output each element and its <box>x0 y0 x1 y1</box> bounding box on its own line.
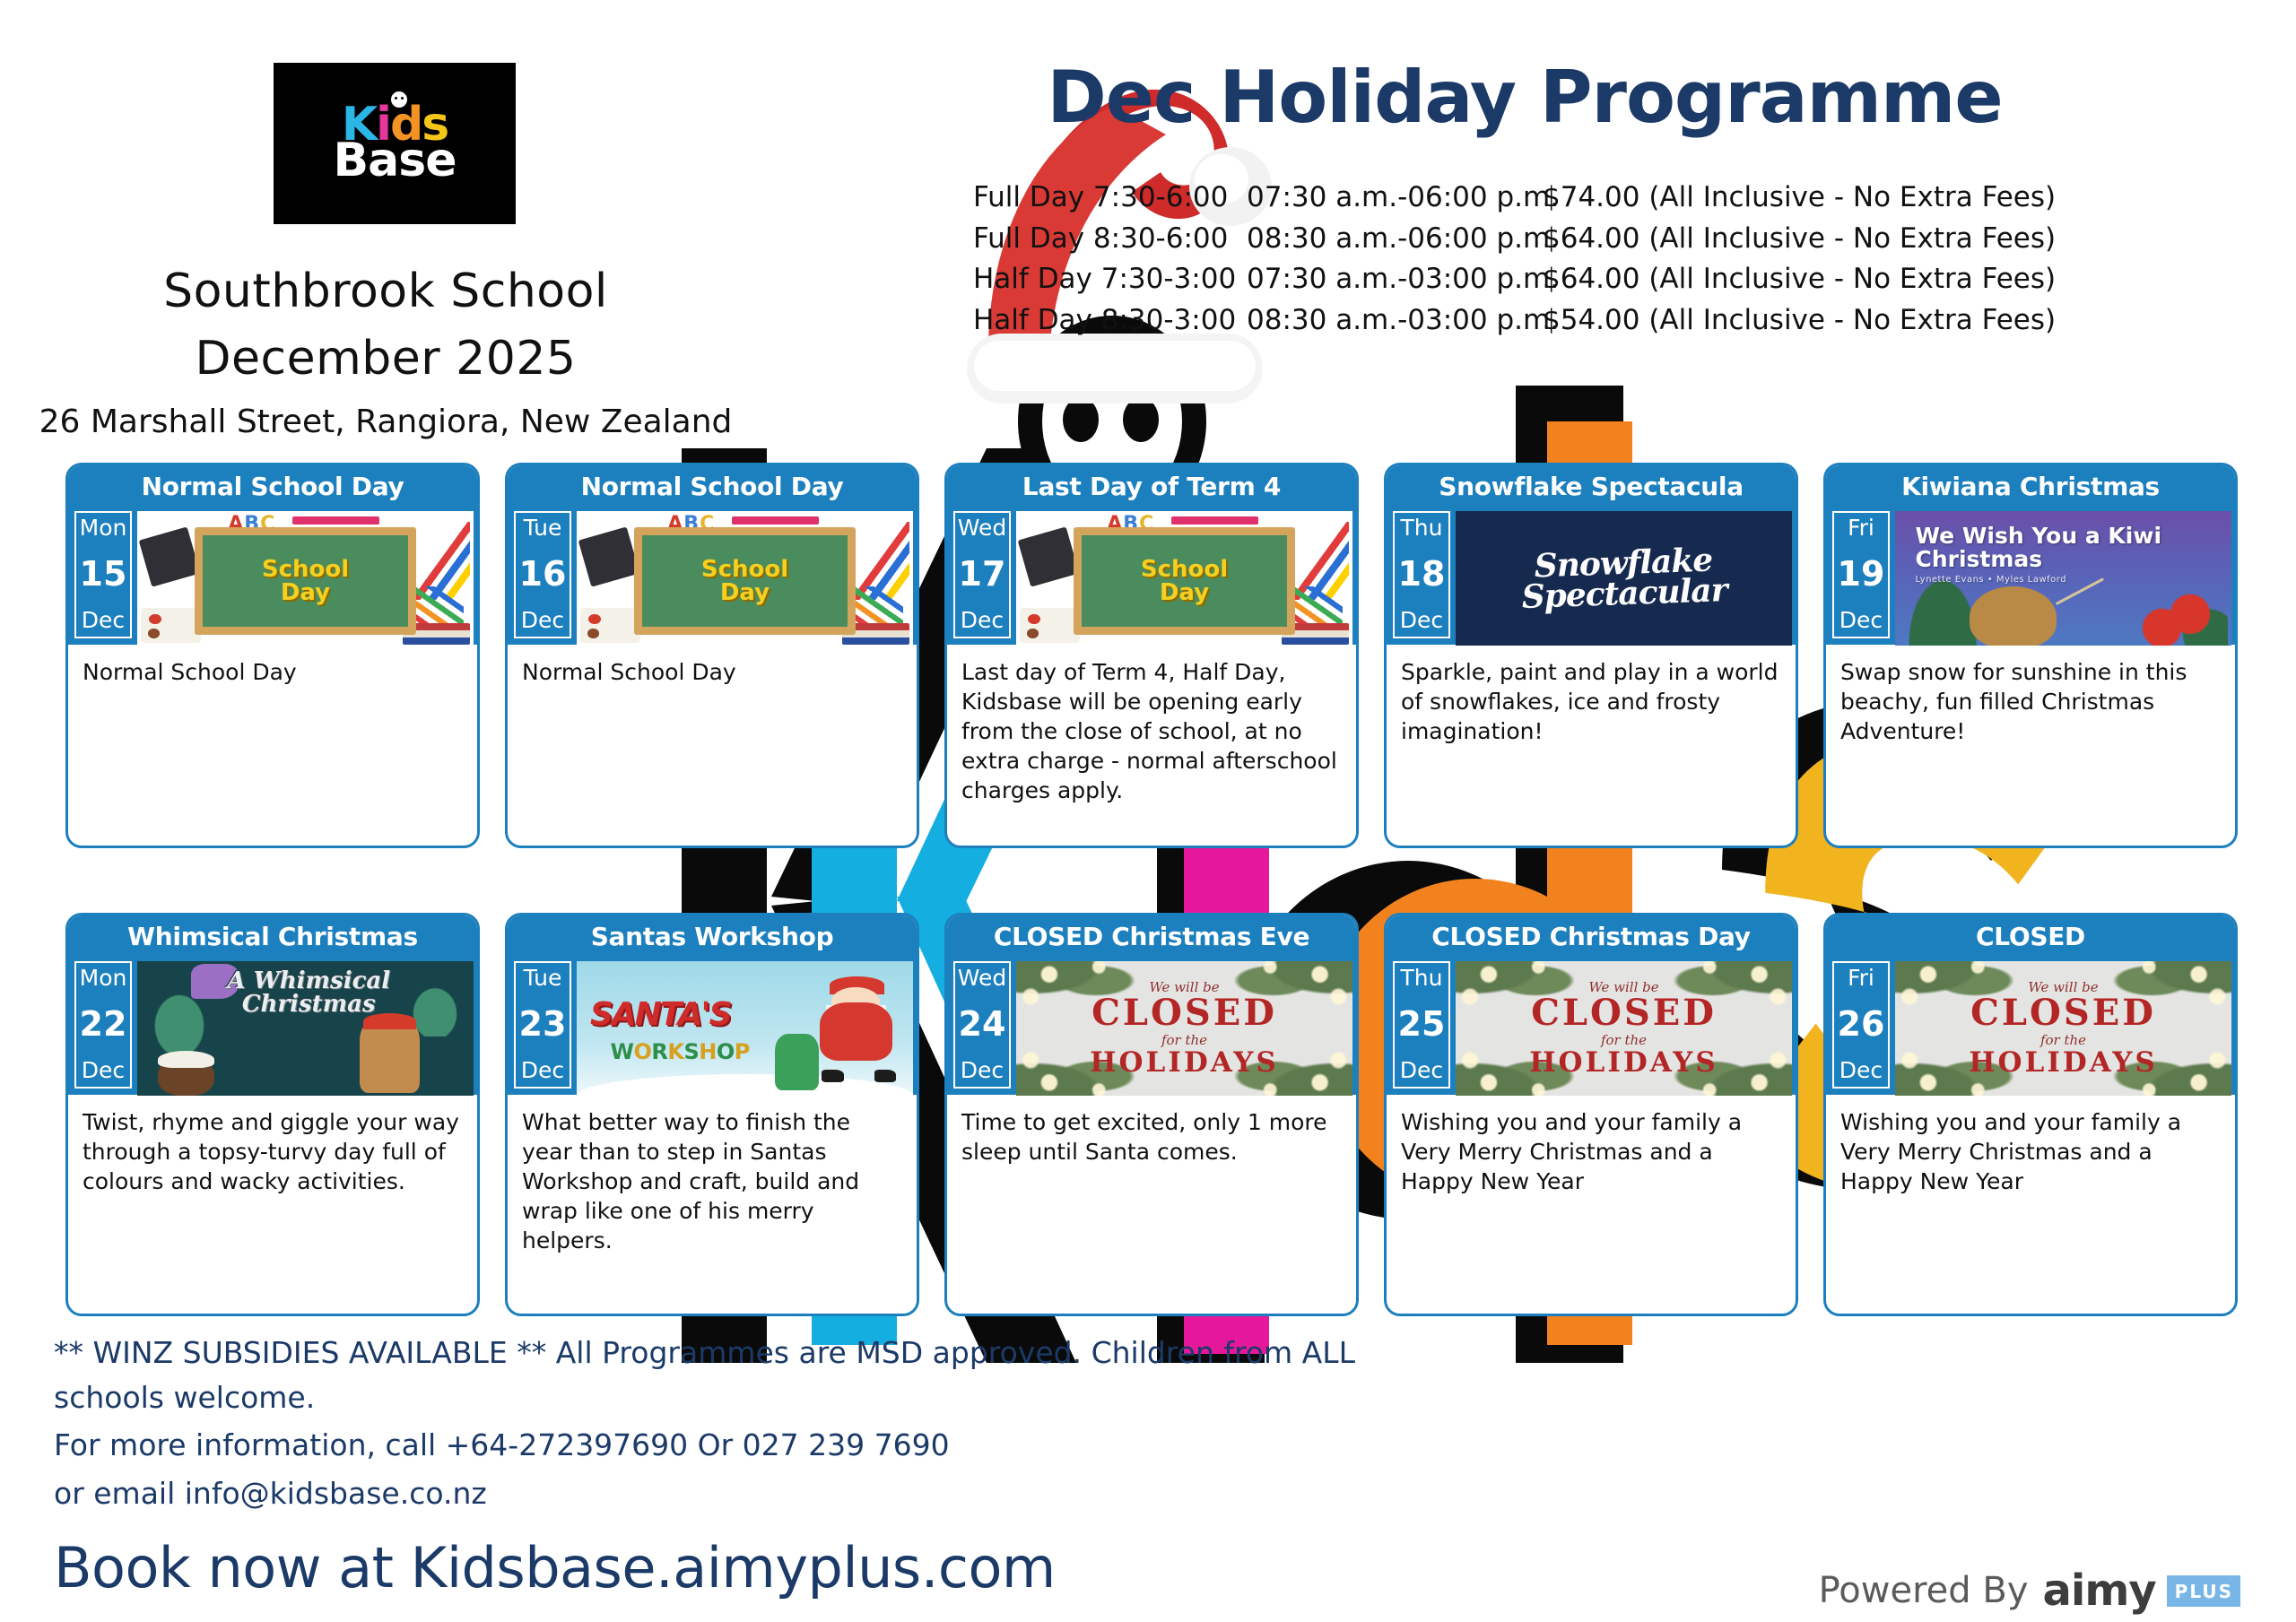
closed-for-holidays-artwork: We will beCLOSEDfor theHOLIDAYS <box>1016 961 1352 1096</box>
day-card-body: Tue23DecSANTA'SWORKSHOP <box>508 957 917 1095</box>
winz-subsidies-note: ** WINZ SUBSIDIES AVAILABLE ** All Progr… <box>54 1331 1372 1419</box>
paint-palette-icon <box>580 608 641 643</box>
date-badge: Fri19Dec <box>1832 511 1890 638</box>
day-card[interactable]: Santas WorkshopTue23DecSANTA'SWORKSHOPWh… <box>505 913 919 1316</box>
day-card[interactable]: Normal School DayTue16DecABCSchoolDayNor… <box>505 463 919 848</box>
kiwi-artwork-text: We Wish You a Kiwi ChristmasLynette Evan… <box>1916 525 2219 585</box>
day-card-description: Wishing you and your family a Very Merry… <box>1826 1095 2235 1205</box>
date-day-number: 22 <box>76 1007 130 1041</box>
date-day-of-week: Mon <box>76 516 130 539</box>
date-day-of-week: Fri <box>1834 516 1888 539</box>
kiwi-bird-icon <box>1970 586 2057 646</box>
day-card-body: Tue16DecABCSchoolDay <box>508 507 917 645</box>
date-month: Dec <box>1395 609 1448 631</box>
day-card[interactable]: Kiwiana ChristmasFri19DecWe Wish You a K… <box>1823 463 2238 848</box>
day-card-body: Mon22DecA Whimsical Christmas <box>68 957 477 1095</box>
closed-sign-text: We will beCLOSEDfor theHOLIDAYS <box>1016 961 1352 1096</box>
day-card-description: Sparkle, paint and play in a world of sn… <box>1387 645 1796 755</box>
closed-sign-text: We will beCLOSEDfor theHOLIDAYS <box>1456 961 1792 1096</box>
school-day-artwork: ABCSchoolDay <box>1016 511 1352 646</box>
snowflake-spectacular-artwork: SnowflakeSpectacular <box>1456 511 1792 646</box>
closed-for-holidays-artwork: We will beCLOSEDfor theHOLIDAYS <box>1456 961 1792 1096</box>
date-day-of-week: Wed <box>955 516 1009 539</box>
day-card-description: Time to get excited, only 1 more sleep u… <box>947 1095 1356 1175</box>
day-card[interactable]: CLOSED Christmas DayThu25DecWe will beCL… <box>1384 913 1798 1316</box>
plus-badge: PLUS <box>2167 1575 2240 1607</box>
kiwi-christmas-artwork: We Wish You a Kiwi ChristmasLynette Evan… <box>1895 511 2231 646</box>
day-card[interactable]: Normal School DayMon15DecABCSchoolDayNor… <box>65 463 480 848</box>
school-day-artwork: ABCSchoolDay <box>577 511 913 646</box>
date-month: Dec <box>516 1059 570 1081</box>
ruler-icon <box>732 516 820 525</box>
date-badge: Mon22Dec <box>74 961 132 1089</box>
date-day-number: 16 <box>516 557 570 591</box>
date-day-of-week: Tue <box>516 967 570 989</box>
closed-line-4: HOLIDAYS <box>1529 1048 1718 1078</box>
date-day-of-week: Thu <box>1395 516 1448 539</box>
powered-by-label: Powered By <box>1819 1570 2029 1611</box>
santas-artwork-text-2: WORKSHOP <box>611 1039 806 1064</box>
calculator-icon <box>138 526 200 586</box>
closed-line-2: CLOSED <box>1970 995 2156 1031</box>
day-card[interactable]: Last Day of Term 4Wed17DecABCSchoolDayLa… <box>944 463 1359 848</box>
day-card-description: What better way to finish the year than … <box>508 1095 917 1264</box>
day-card-body: Wed17DecABCSchoolDay <box>947 507 1356 645</box>
snowflake-artwork-text: SnowflakeSpectacular <box>1520 544 1727 612</box>
school-day-artwork: ABCSchoolDay <box>137 511 474 646</box>
date-month: Dec <box>1834 609 1888 631</box>
date-badge: Thu25Dec <box>1393 961 1450 1089</box>
date-month: Dec <box>76 609 130 631</box>
date-month: Dec <box>76 1059 130 1081</box>
closed-line-2: CLOSED <box>1531 995 1717 1031</box>
date-day-number: 15 <box>76 557 130 591</box>
date-badge: Mon15Dec <box>74 511 132 638</box>
chalkboard-text: SchoolDay <box>262 558 349 604</box>
phone-line: For more information, call +64-272397690… <box>54 1423 2242 1468</box>
chalkboard: SchoolDay <box>195 527 417 635</box>
calculator-icon <box>578 526 639 586</box>
day-card-title: Last Day of Term 4 <box>947 465 1356 507</box>
day-card[interactable]: CLOSED Christmas EveWed24DecWe will beCL… <box>944 913 1359 1316</box>
day-card-title: Snowflake Spectacula <box>1387 465 1796 507</box>
closed-line-4: HOLIDAYS <box>1090 1048 1279 1078</box>
chalkboard: SchoolDay <box>1074 527 1296 635</box>
day-card-title: Santas Workshop <box>508 915 917 957</box>
gingerbread-man-icon <box>360 1018 421 1093</box>
day-card-title: CLOSED Christmas Eve <box>947 915 1356 957</box>
date-badge: Thu18Dec <box>1393 511 1450 638</box>
day-card-title: Normal School Day <box>508 465 917 507</box>
date-badge: Wed17Dec <box>953 511 1011 638</box>
christmas-pudding-icon <box>158 1055 215 1096</box>
day-card-description: Wishing you and your family a Very Merry… <box>1387 1095 1796 1205</box>
pohutukawa-icon <box>2134 576 2228 646</box>
day-card-description: Swap snow for sunshine in this beachy, f… <box>1826 645 2235 755</box>
closed-sign-text: We will beCLOSEDfor theHOLIDAYS <box>1895 961 2231 1096</box>
day-card-body: Mon15DecABCSchoolDay <box>68 507 477 645</box>
santas-workshop-artwork: SANTA'SWORKSHOP <box>577 961 913 1096</box>
closed-line-4: HOLIDAYS <box>1969 1048 2158 1078</box>
day-card-description: Twist, rhyme and giggle your way through… <box>68 1095 477 1205</box>
ruler-icon <box>1171 516 1259 525</box>
date-badge: Wed24Dec <box>953 961 1011 1089</box>
date-month: Dec <box>1834 1059 1888 1081</box>
day-card-description: Normal School Day <box>508 645 917 696</box>
email-line: or email info@kidsbase.co.nz <box>54 1471 2242 1516</box>
day-card-description: Normal School Day <box>68 645 477 696</box>
date-month: Dec <box>516 609 570 631</box>
day-card-body: Thu25DecWe will beCLOSEDfor theHOLIDAYS <box>1387 957 1796 1095</box>
date-day-number: 19 <box>1834 557 1888 591</box>
day-card[interactable]: Whimsical ChristmasMon22DecA Whimsical C… <box>65 913 480 1316</box>
date-day-number: 25 <box>1395 1007 1448 1041</box>
chalkboard-text: SchoolDay <box>1141 558 1228 604</box>
date-badge: Tue23Dec <box>514 961 571 1089</box>
day-card-title: CLOSED <box>1826 915 2235 957</box>
santa-icon <box>805 975 907 1082</box>
poster-footer: ** WINZ SUBSIDIES AVAILABLE ** All Progr… <box>54 1331 2242 1600</box>
closed-line-2: CLOSED <box>1091 995 1277 1031</box>
date-day-of-week: Wed <box>955 967 1009 989</box>
day-card-title: Kiwiana Christmas <box>1826 465 2235 507</box>
date-day-number: 23 <box>516 1007 570 1041</box>
date-day-number: 24 <box>955 1007 1009 1041</box>
day-card-body: Fri26DecWe will beCLOSEDfor theHOLIDAYS <box>1826 957 2235 1095</box>
date-day-number: 26 <box>1834 1007 1888 1041</box>
date-day-of-week: Tue <box>516 516 570 539</box>
date-day-number: 17 <box>955 557 1009 591</box>
day-card-title: Normal School Day <box>68 465 477 507</box>
date-day-of-week: Thu <box>1395 967 1448 989</box>
paint-palette-icon <box>1020 608 1081 643</box>
powered-by-aimyplus: Powered By aimy PLUS <box>1819 1566 2240 1616</box>
date-month: Dec <box>955 1059 1009 1081</box>
kiwi-artwork-credit: Lynette Evans • Myles Lawford <box>1916 576 2219 585</box>
paint-palette-icon <box>141 608 202 643</box>
date-day-of-week: Mon <box>76 967 130 989</box>
day-card-body: Fri19DecWe Wish You a Kiwi ChristmasLyne… <box>1826 507 2235 645</box>
chalkboard: SchoolDay <box>634 527 857 635</box>
closed-for-holidays-artwork: We will beCLOSEDfor theHOLIDAYS <box>1895 961 2231 1096</box>
date-day-number: 18 <box>1395 557 1448 591</box>
day-card-description: Last day of Term 4, Half Day, Kidsbase w… <box>947 645 1356 814</box>
santas-artwork-text-1: SANTA'S <box>590 996 799 1033</box>
day-card[interactable]: Snowflake SpectaculaThu18DecSnowflakeSpe… <box>1384 463 1798 848</box>
calculator-icon <box>1017 526 1079 586</box>
date-month: Dec <box>1395 1059 1448 1081</box>
ruler-icon <box>292 516 380 525</box>
day-card-body: Wed24DecWe will beCLOSEDfor theHOLIDAYS <box>947 957 1356 1095</box>
day-card-body: Thu18DecSnowflakeSpectacular <box>1387 507 1796 645</box>
chalkboard-text: SchoolDay <box>701 558 788 604</box>
aimy-wordmark: aimy <box>2043 1566 2156 1616</box>
day-card-title: Whimsical Christmas <box>68 915 477 957</box>
date-month: Dec <box>955 609 1009 631</box>
date-badge: Tue16Dec <box>514 511 571 638</box>
date-day-of-week: Fri <box>1834 967 1888 989</box>
whimsical-christmas-artwork: A Whimsical Christmas <box>137 961 474 1096</box>
date-badge: Fri26Dec <box>1832 961 1890 1089</box>
day-card[interactable]: CLOSEDFri26DecWe will beCLOSEDfor theHOL… <box>1823 913 2238 1316</box>
whimsy-artwork-text: A Whimsical Christmas <box>198 969 421 1016</box>
day-card-title: CLOSED Christmas Day <box>1387 915 1796 957</box>
